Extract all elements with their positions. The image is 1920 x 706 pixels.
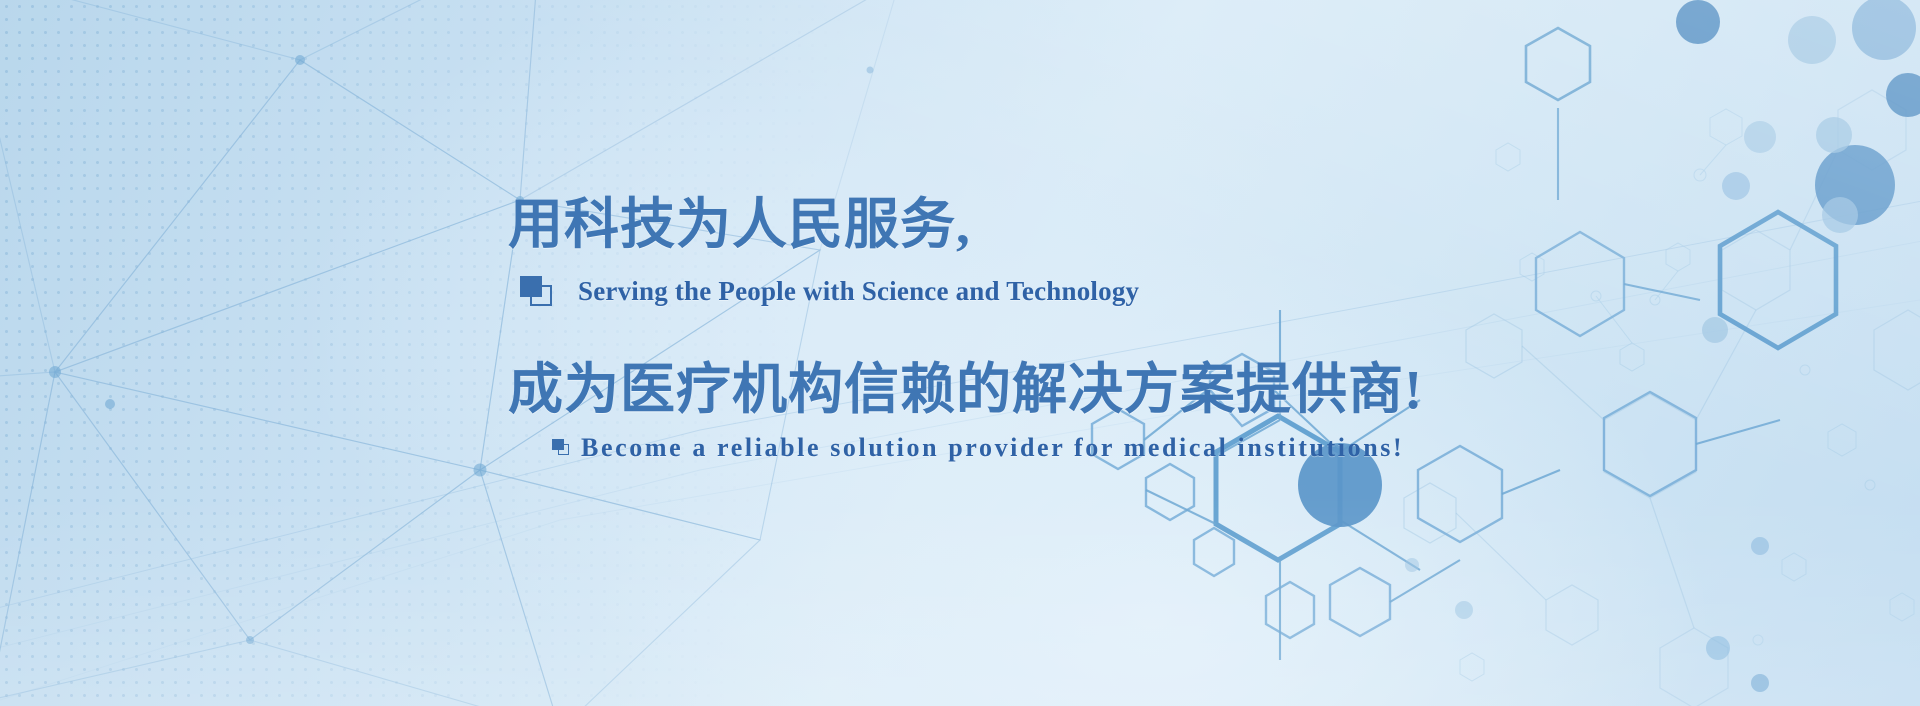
bullet-outline-square	[558, 444, 569, 455]
headline-secondary-cn: 成为医疗机构信赖的解决方案提供商!	[508, 361, 1468, 419]
double-square-bullet-icon-small	[552, 439, 570, 456]
molecule-top-hexagon	[1526, 28, 1590, 100]
double-square-bullet-icon	[520, 276, 552, 306]
subline-primary-en: Serving the People with Science and Tech…	[578, 276, 1139, 307]
headline-primary-cn: 用科技为人民服务,	[508, 196, 1468, 254]
banner-copy: 用科技为人民服务, Serving the People with Scienc…	[508, 196, 1468, 463]
subline-secondary-en: Become a reliable solution provider for …	[581, 433, 1404, 463]
subline-secondary-row: Become a reliable solution provider for …	[552, 433, 1468, 463]
subline-primary-row: Serving the People with Science and Tech…	[520, 276, 1468, 307]
bullet-outline-square	[530, 285, 552, 306]
hero-banner: 用科技为人民服务, Serving the People with Scienc…	[0, 0, 1920, 706]
